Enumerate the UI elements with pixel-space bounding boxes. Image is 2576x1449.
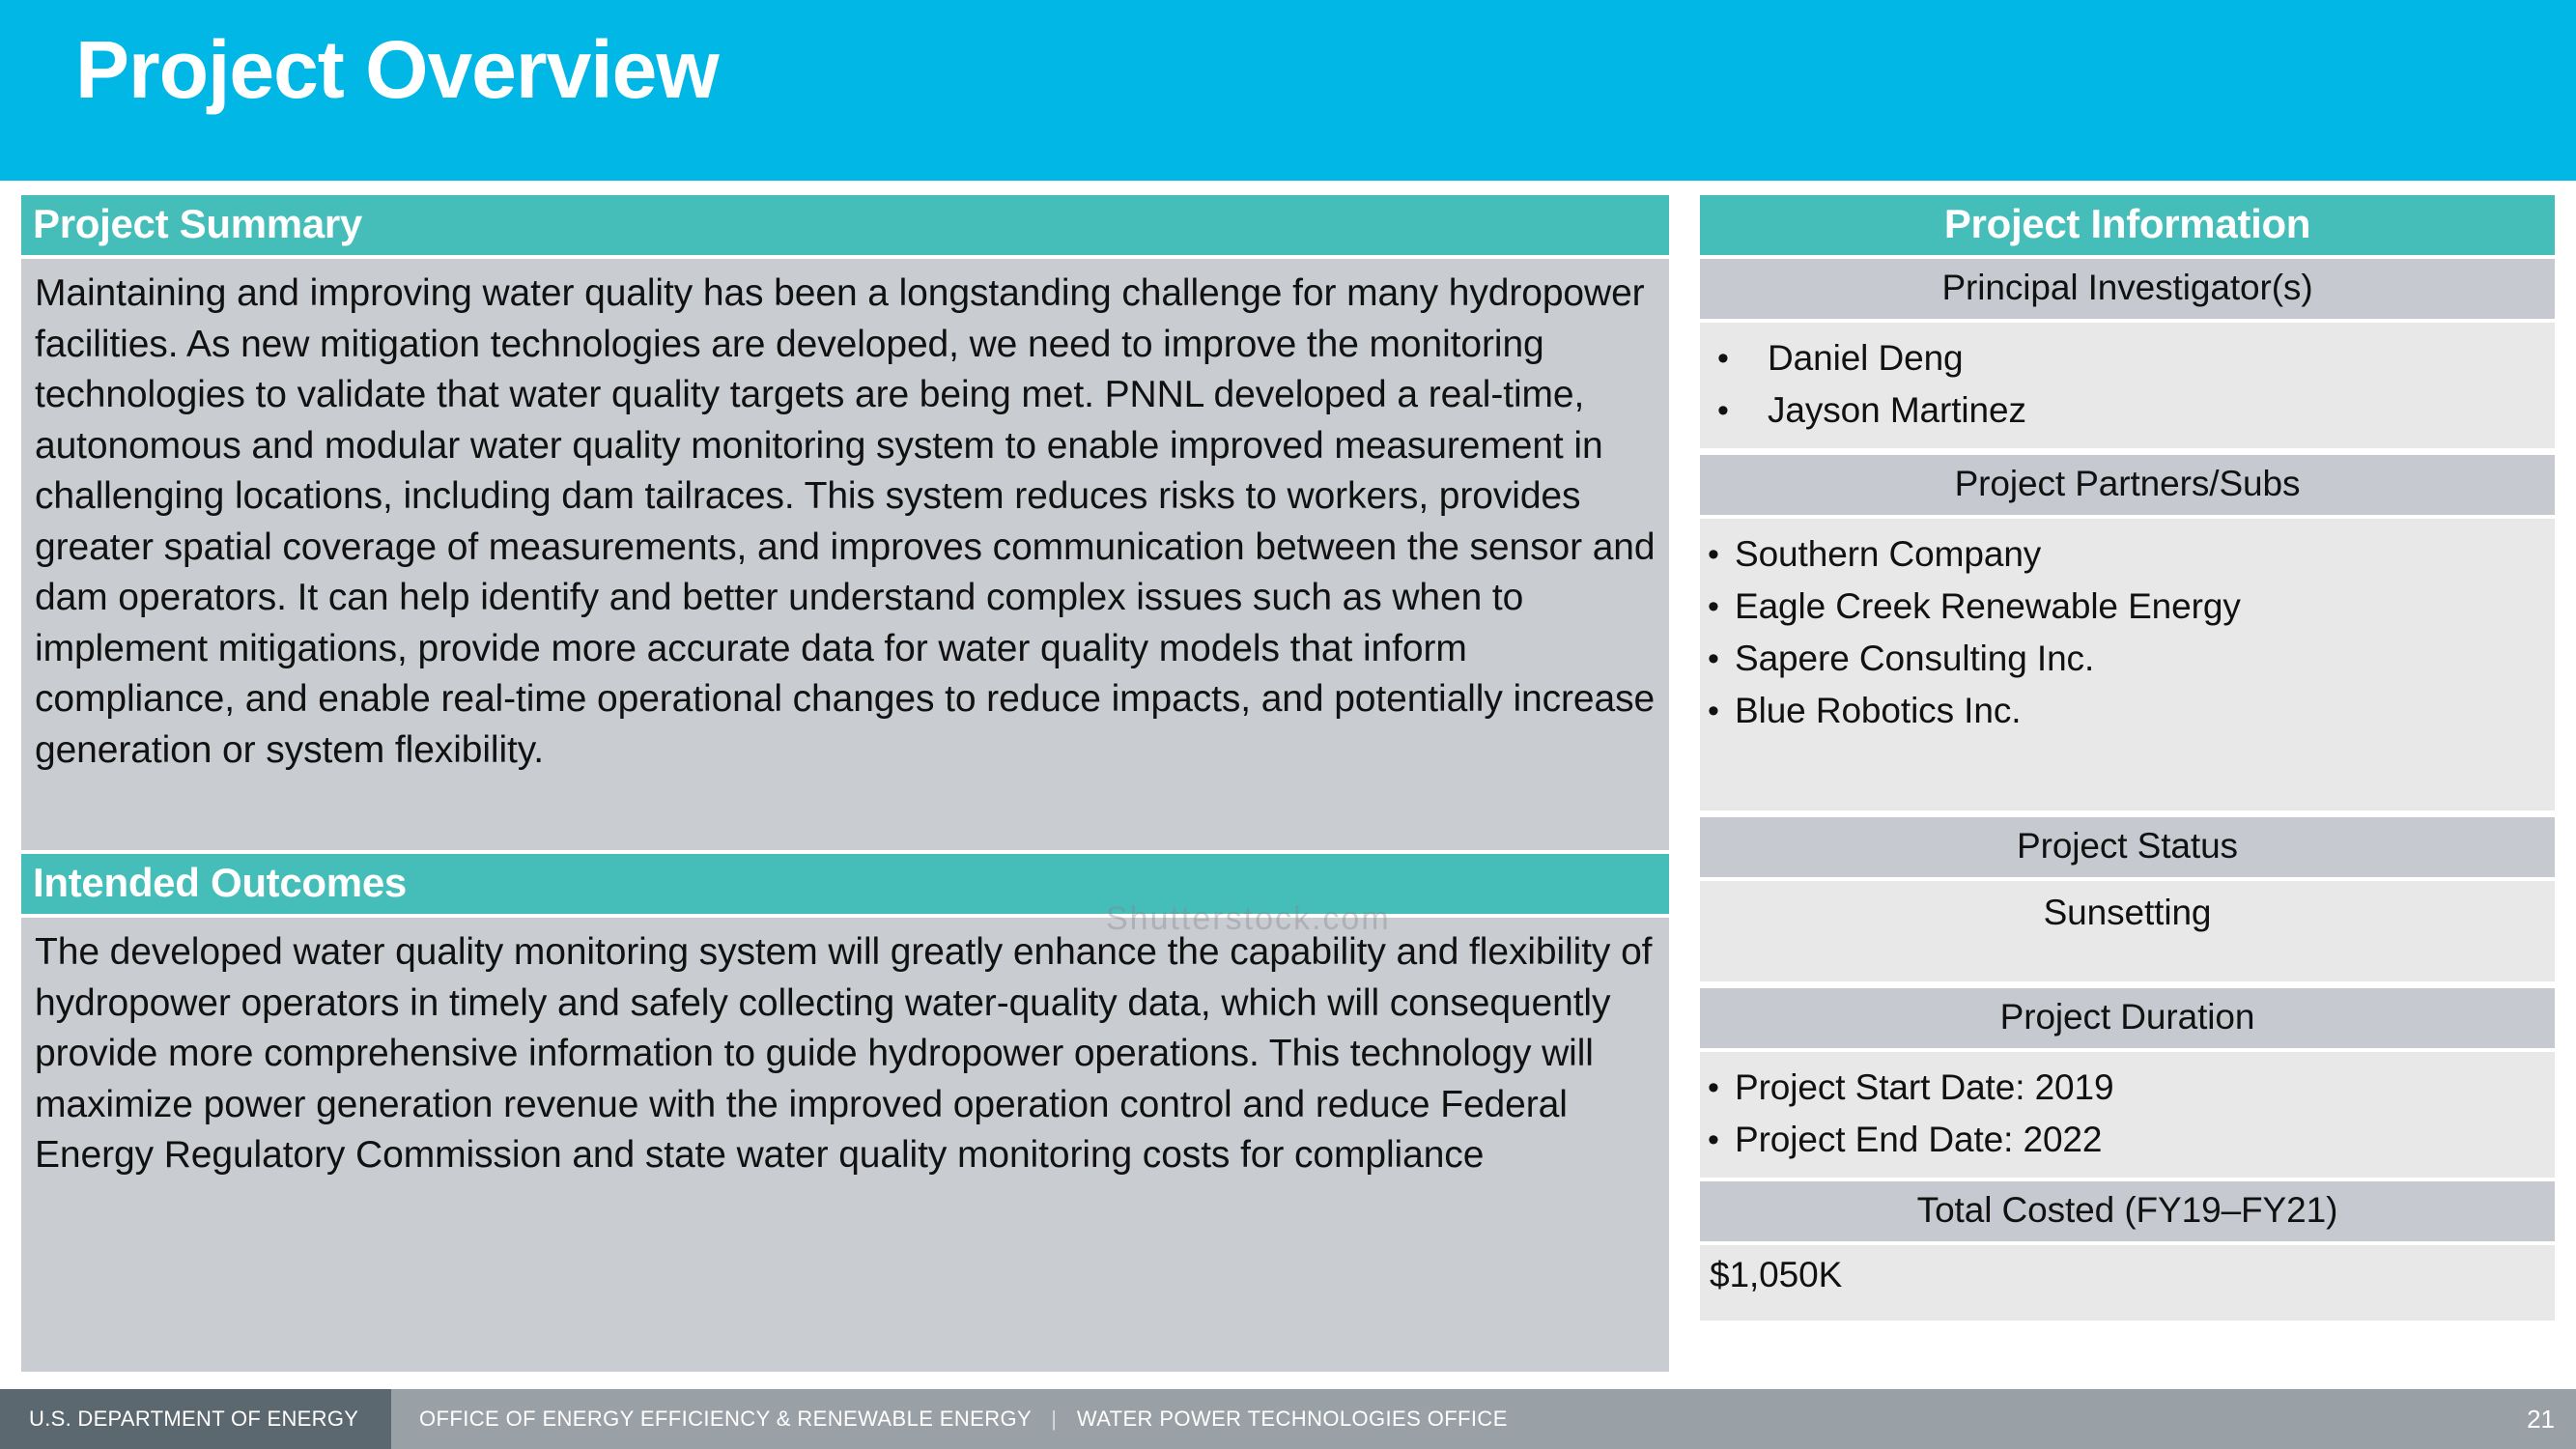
list-item: Daniel Deng <box>1700 332 2555 384</box>
footer-separator: | <box>1051 1389 1057 1449</box>
principal-investigators-label: Principal Investigator(s) <box>1700 259 2555 319</box>
list-item: Sapere Consulting Inc. <box>1700 633 2555 685</box>
footer-bar: U.S. DEPARTMENT OF ENERGY OFFICE OF ENER… <box>0 1389 2576 1449</box>
footer-office-label: OFFICE OF ENERGY EFFICIENCY & RENEWABLE … <box>419 1389 1508 1449</box>
project-information-header: Project Information <box>1700 195 2555 255</box>
title-banner: Project Overview <box>0 0 2576 181</box>
list-item: Southern Company <box>1700 528 2555 581</box>
list-item: Project Start Date: 2019 <box>1700 1062 2555 1114</box>
right-column: Project Information Principal Investigat… <box>1700 195 2555 1321</box>
intended-outcomes-body: The developed water quality monitoring s… <box>21 918 1669 1372</box>
project-summary-header: Project Summary <box>21 195 1669 255</box>
principal-investigators-list: Daniel Deng Jayson Martinez <box>1700 323 2555 448</box>
page-title: Project Overview <box>75 27 719 112</box>
footer-doe-label: U.S. DEPARTMENT OF ENERGY <box>0 1389 391 1449</box>
project-partners-label: Project Partners/Subs <box>1700 455 2555 515</box>
list-item: Blue Robotics Inc. <box>1700 685 2555 737</box>
total-costed-value: $1,050K <box>1700 1245 2555 1321</box>
list-item: Jayson Martinez <box>1700 384 2555 437</box>
intended-outcomes-header: Intended Outcomes <box>21 854 1669 914</box>
intended-outcomes-text: The developed water quality monitoring s… <box>35 927 1656 1181</box>
list-item: Eagle Creek Renewable Energy <box>1700 581 2555 633</box>
project-partners-list: Southern Company Eagle Creek Renewable E… <box>1700 519 2555 810</box>
project-summary-body: Maintaining and improving water quality … <box>21 259 1669 850</box>
slide-content: Project Summary Maintaining and improvin… <box>0 181 2576 1378</box>
page-number: 21 <box>2527 1389 2555 1449</box>
footer-program-text: WATER POWER TECHNOLOGIES OFFICE <box>1077 1406 1508 1431</box>
footer-office-text: OFFICE OF ENERGY EFFICIENCY & RENEWABLE … <box>419 1406 1032 1431</box>
project-duration-list: Project Start Date: 2019 Project End Dat… <box>1700 1052 2555 1178</box>
project-duration-label: Project Duration <box>1700 988 2555 1048</box>
project-status-label: Project Status <box>1700 817 2555 877</box>
list-item: Project End Date: 2022 <box>1700 1114 2555 1166</box>
project-status-value: Sunsetting <box>1700 881 2555 981</box>
project-summary-text: Maintaining and improving water quality … <box>35 269 1656 776</box>
total-costed-label: Total Costed (FY19–FY21) <box>1700 1181 2555 1241</box>
left-column: Project Summary Maintaining and improvin… <box>21 195 1669 1372</box>
